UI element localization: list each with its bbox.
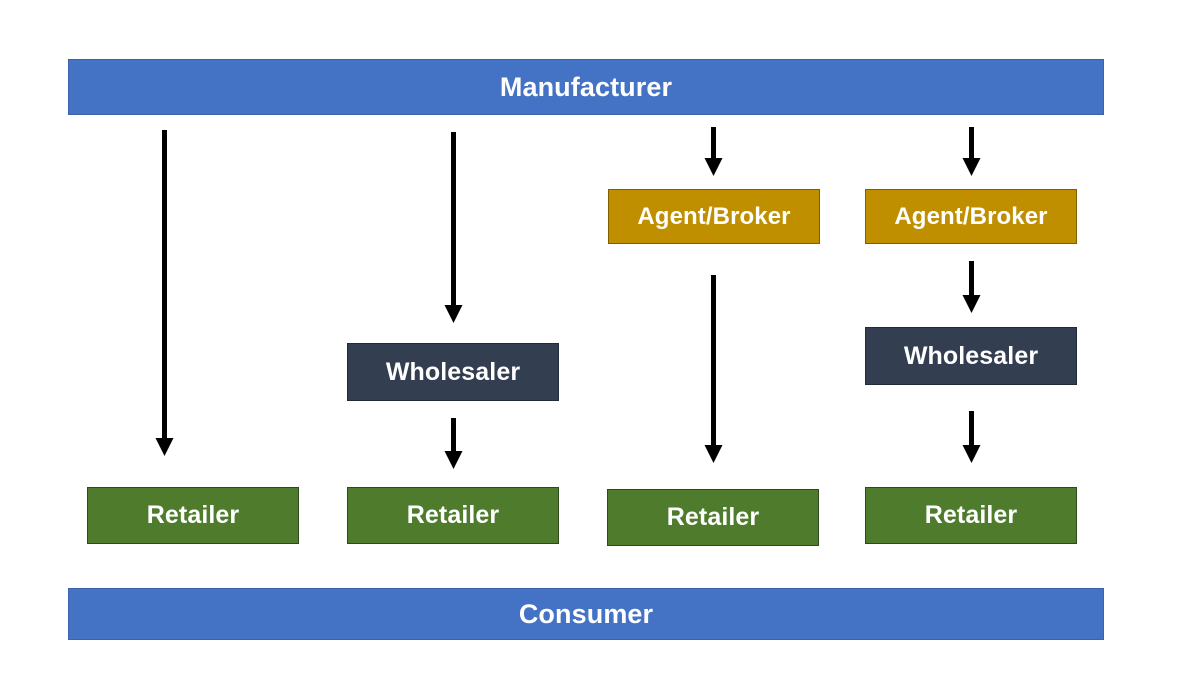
node-agent-broker-1-label: Agent/Broker — [637, 204, 790, 229]
node-retailer-1-label: Retailer — [147, 502, 240, 528]
arrow-manufacturer-to-agent-2 — [962, 127, 981, 176]
node-wholesaler-1[interactable]: Wholesaler — [347, 343, 559, 401]
arrow-manufacturer-to-retailer-1 — [155, 130, 174, 456]
node-retailer-2[interactable]: Retailer — [347, 487, 559, 544]
node-retailer-3-label: Retailer — [667, 504, 760, 530]
node-retailer-3[interactable]: Retailer — [607, 489, 819, 546]
node-retailer-4[interactable]: Retailer — [865, 487, 1077, 544]
node-consumer-label: Consumer — [519, 600, 653, 628]
node-agent-broker-2-label: Agent/Broker — [894, 204, 1047, 229]
node-wholesaler-1-label: Wholesaler — [386, 359, 520, 385]
node-manufacturer-label: Manufacturer — [500, 73, 672, 101]
arrow-agent-1-to-retailer-3 — [704, 275, 723, 463]
node-retailer-1[interactable]: Retailer — [87, 487, 299, 544]
arrow-agent-2-to-wholesaler-2 — [962, 261, 981, 313]
arrow-manufacturer-to-wholesaler-1 — [444, 132, 463, 323]
node-wholesaler-2-label: Wholesaler — [904, 343, 1038, 369]
node-manufacturer[interactable]: Manufacturer — [68, 59, 1104, 115]
arrow-manufacturer-to-agent-1 — [704, 127, 723, 176]
node-consumer[interactable]: Consumer — [68, 588, 1104, 640]
node-retailer-4-label: Retailer — [925, 502, 1018, 528]
node-wholesaler-2[interactable]: Wholesaler — [865, 327, 1077, 385]
node-agent-broker-2[interactable]: Agent/Broker — [865, 189, 1077, 244]
distribution-channel-diagram: Manufacturer Retailer Wholesaler Retaile… — [0, 0, 1200, 675]
node-retailer-2-label: Retailer — [407, 502, 500, 528]
arrow-wholesaler-2-to-retailer-4 — [962, 411, 981, 463]
node-agent-broker-1[interactable]: Agent/Broker — [608, 189, 820, 244]
arrow-wholesaler-1-to-retailer-2 — [444, 418, 463, 469]
